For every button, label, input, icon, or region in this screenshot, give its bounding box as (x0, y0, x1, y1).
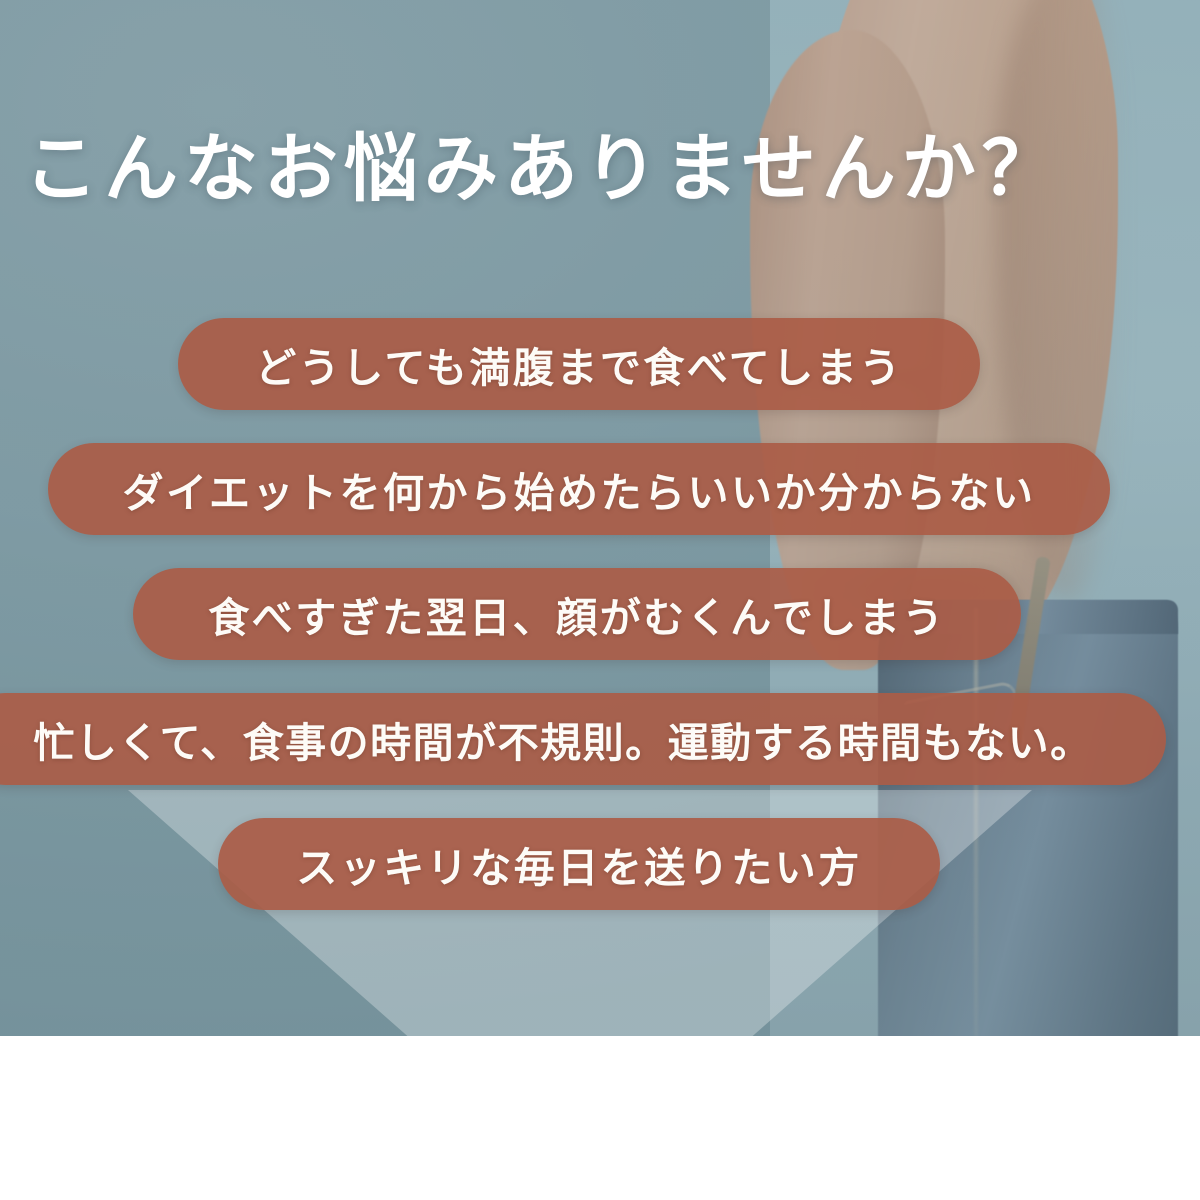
promo-banner: こんなお悩みありませんか？ どうしても満腹まで食べてしまう ダイエットを何から始… (0, 0, 1200, 1200)
list-item-label: 忙しくて、食事の時間が不規則。運動する時間もない。 (33, 709, 1092, 769)
list-item-label: スッキリな毎日を送りたい方 (296, 834, 862, 894)
list-item-label: 食べすぎた翌日、顔がむくんでしまう (208, 584, 945, 644)
list-item: ダイエットを何から始めたらいいか分からない (48, 443, 1110, 535)
list-item: 食べすぎた翌日、顔がむくんでしまう (133, 568, 1021, 660)
list-item-label: ダイエットを何から始めたらいいか分からない (122, 459, 1035, 519)
problem-list: どうしても満腹まで食べてしまう ダイエットを何から始めたらいいか分からない 食べ… (0, 0, 1200, 1036)
list-item: どうしても満腹まで食べてしまう (178, 318, 980, 410)
list-item: スッキリな毎日を送りたい方 (218, 818, 940, 910)
list-item-label: どうしても満腹まで食べてしまう (255, 334, 903, 394)
list-item: 忙しくて、食事の時間が不規則。運動する時間もない。 (0, 693, 1166, 785)
